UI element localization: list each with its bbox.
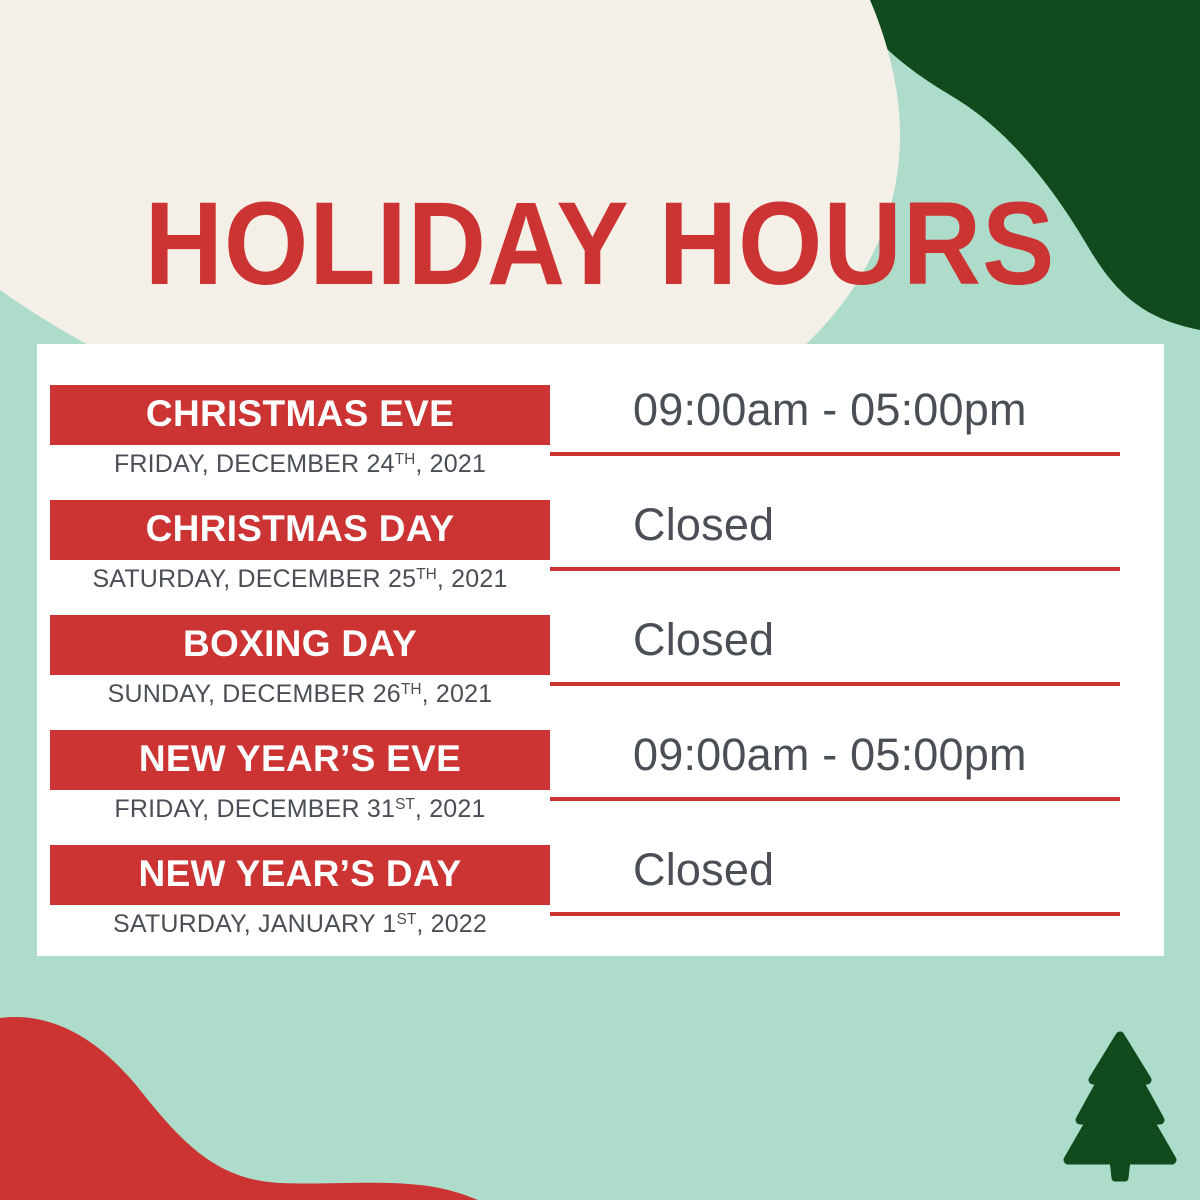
holiday-name: BOXING DAY (169, 623, 431, 668)
date-ordinal: ST (397, 911, 417, 928)
date-prefix: FRIDAY, DECEMBER 24 (114, 450, 395, 478)
date-suffix: , 2021 (415, 450, 486, 478)
schedule-row: NEW YEAR’S DAY SATURDAY, JANUARY 1ST, 20… (37, 838, 1164, 953)
hours-cell: Closed (550, 608, 1120, 686)
date-ordinal: TH (401, 681, 422, 698)
date-suffix: , 2021 (437, 565, 508, 593)
holiday-name-bar: CHRISTMAS EVE (50, 385, 550, 445)
holiday-date: SATURDAY, DECEMBER 25TH, 2021 (50, 565, 550, 594)
holiday-name: CHRISTMAS EVE (132, 393, 468, 438)
hours-cell: Closed (550, 493, 1120, 571)
holiday-name: CHRISTMAS DAY (132, 508, 469, 553)
hours-cell: 09:00am - 05:00pm (550, 723, 1120, 801)
holiday-name: NEW YEAR’S DAY (125, 853, 476, 898)
date-prefix: SATURDAY, JANUARY 1 (113, 910, 397, 938)
hours-value: Closed (633, 844, 774, 896)
holiday-name: NEW YEAR’S EVE (125, 738, 475, 783)
page-title: HOLIDAY HOURS (48, 185, 1152, 303)
hours-value: 09:00am - 05:00pm (633, 384, 1027, 436)
hours-cell: 09:00am - 05:00pm (550, 378, 1120, 456)
schedule-row: CHRISTMAS DAY SATURDAY, DECEMBER 25TH, 2… (37, 493, 1164, 608)
hours-cell: Closed (550, 838, 1120, 916)
date-prefix: SUNDAY, DECEMBER 26 (108, 680, 401, 708)
date-ordinal: TH (416, 566, 437, 583)
holiday-name-bar: CHRISTMAS DAY (50, 500, 550, 560)
schedule-row: BOXING DAY SUNDAY, DECEMBER 26TH, 2021 C… (37, 608, 1164, 723)
schedule-card: CHRISTMAS EVE FRIDAY, DECEMBER 24TH, 202… (37, 344, 1164, 956)
date-prefix: FRIDAY, DECEMBER 31 (114, 795, 395, 823)
christmas-tree-decoration (1055, 1020, 1185, 1190)
schedule-row: NEW YEAR’S EVE FRIDAY, DECEMBER 31ST, 20… (37, 723, 1164, 838)
date-suffix: , 2021 (415, 795, 486, 823)
date-suffix: , 2022 (416, 910, 487, 938)
date-suffix: , 2021 (422, 680, 493, 708)
hours-value: Closed (633, 614, 774, 666)
date-prefix: SATURDAY, DECEMBER 25 (92, 565, 416, 593)
hours-value: 09:00am - 05:00pm (633, 729, 1027, 781)
schedule-row: CHRISTMAS EVE FRIDAY, DECEMBER 24TH, 202… (37, 378, 1164, 493)
holiday-name-bar: NEW YEAR’S DAY (50, 845, 550, 905)
hours-value: Closed (633, 499, 774, 551)
holiday-date: SUNDAY, DECEMBER 26TH, 2021 (50, 680, 550, 709)
holiday-date: SATURDAY, JANUARY 1ST, 2022 (50, 910, 550, 939)
date-ordinal: ST (395, 796, 415, 813)
holiday-date: FRIDAY, DECEMBER 31ST, 2021 (50, 795, 550, 824)
holiday-name-bar: NEW YEAR’S EVE (50, 730, 550, 790)
holiday-name-bar: BOXING DAY (50, 615, 550, 675)
holiday-hours-poster: HOLIDAY HOURS CHRISTMAS EVE FRIDAY, DECE… (0, 0, 1200, 1200)
date-ordinal: TH (395, 451, 416, 468)
holiday-date: FRIDAY, DECEMBER 24TH, 2021 (50, 450, 550, 479)
christmas-tree-icon (1055, 1020, 1185, 1190)
